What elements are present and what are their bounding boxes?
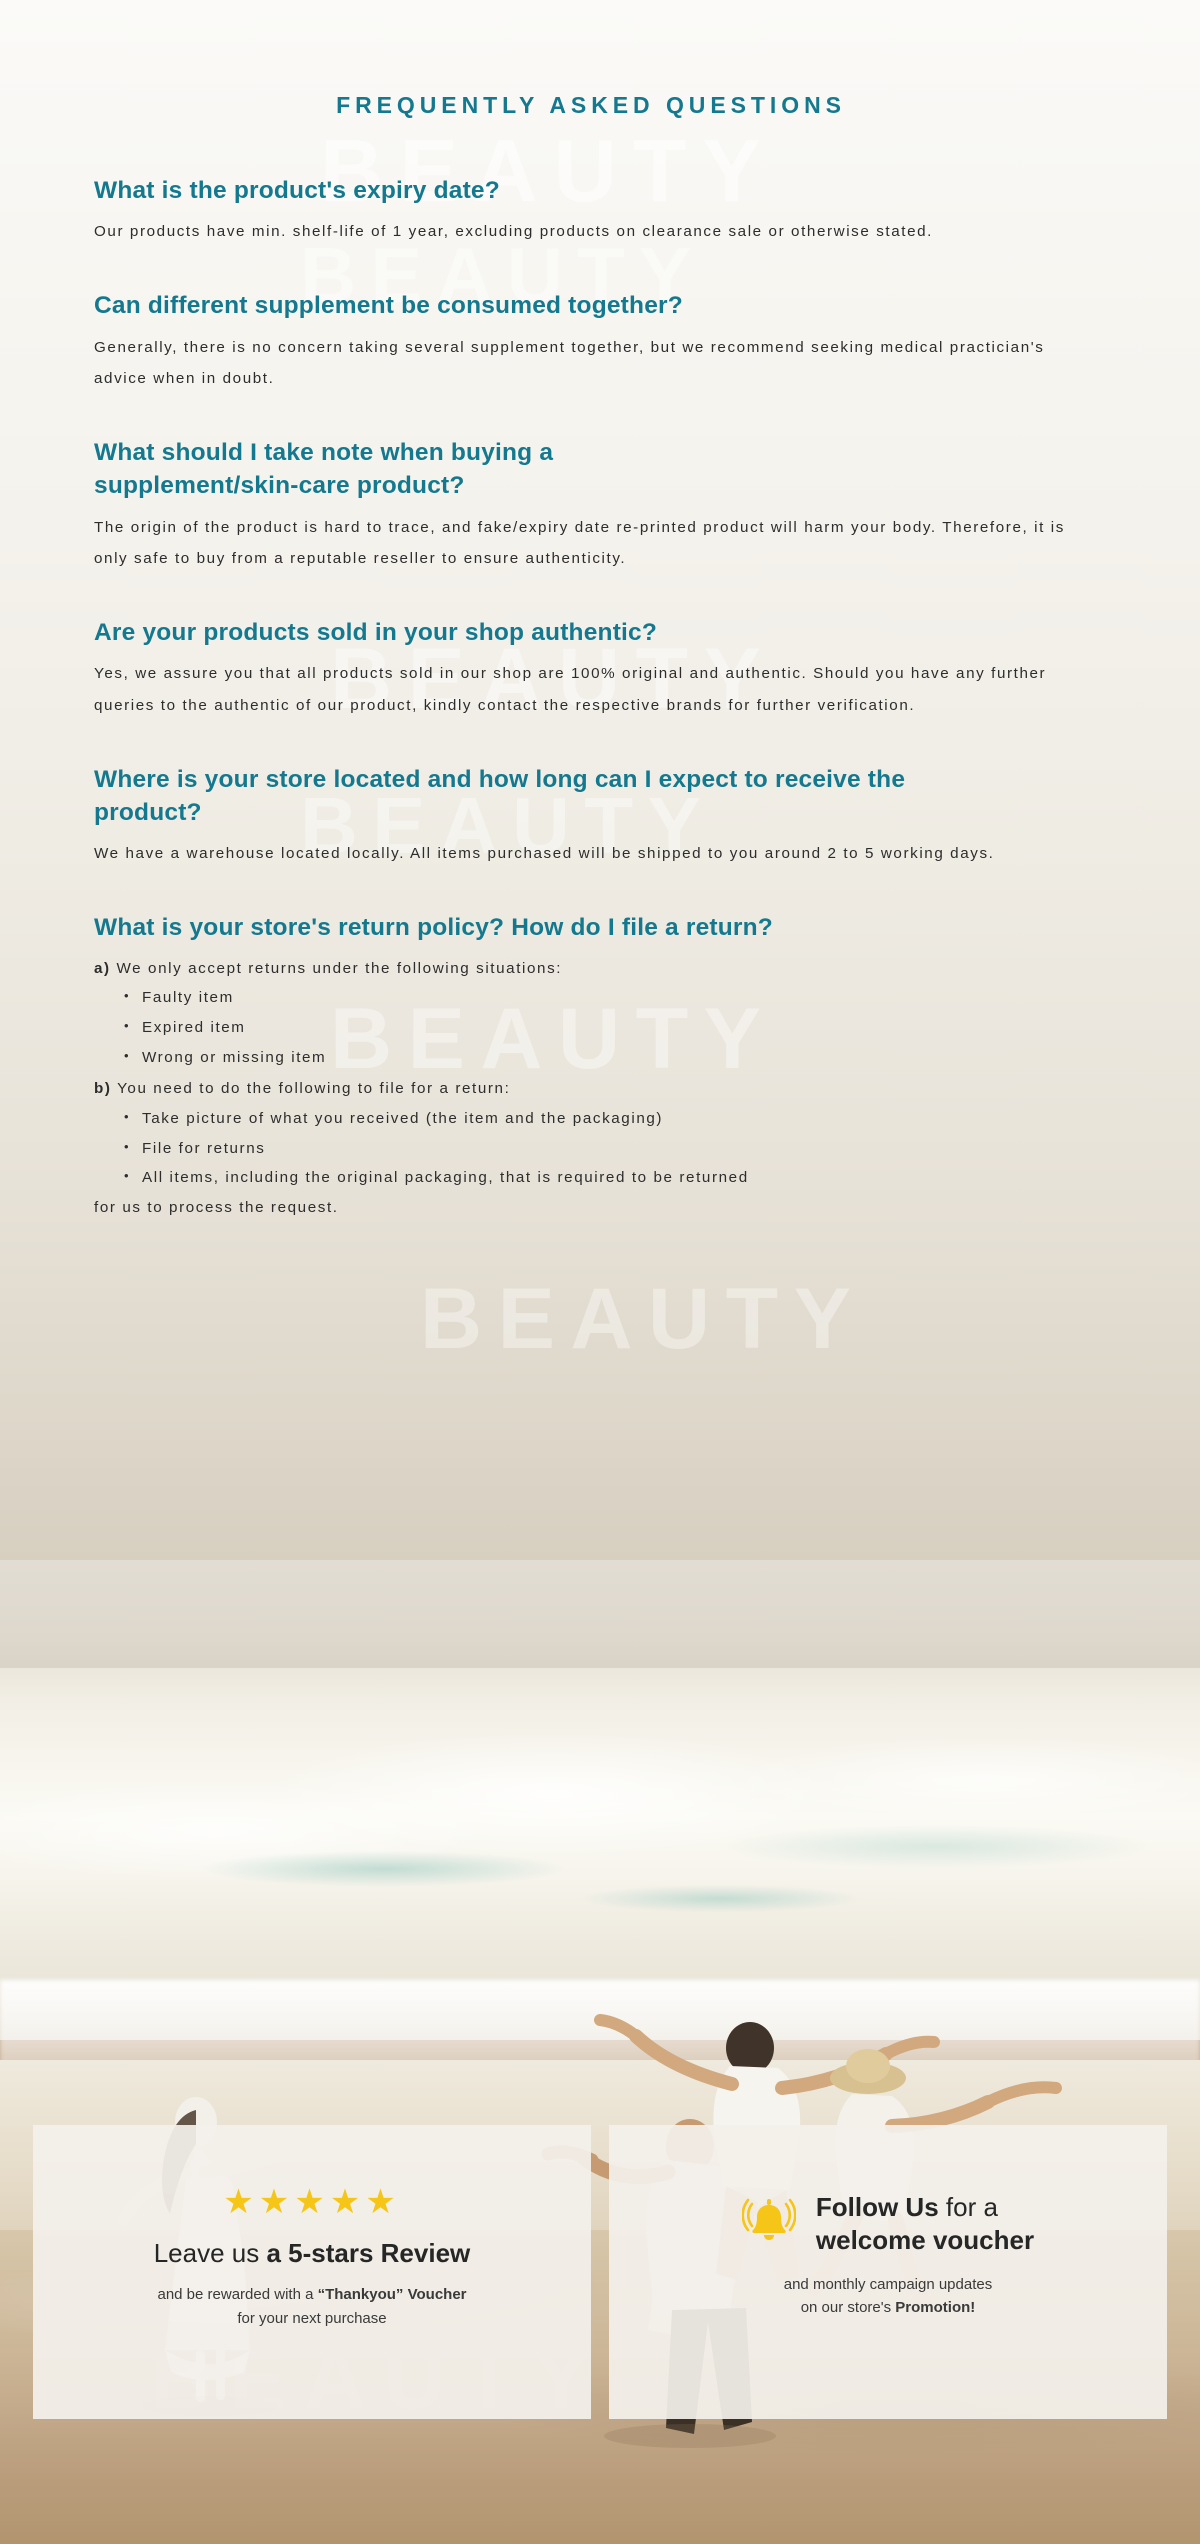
follow-headline-bold: Follow Us	[816, 2192, 939, 2222]
faq-question: Can different supplement be consumed tog…	[94, 289, 1106, 322]
faq-answer: Our products have min. shelf-life of 1 y…	[94, 216, 1094, 247]
follow-sub-line2-plain: on our store's	[801, 2299, 896, 2316]
faq-question: Are your products sold in your shop auth…	[94, 616, 1106, 649]
follow-subtext: and monthly campaign updates on our stor…	[784, 2273, 992, 2320]
list-item: Take picture of what you received (the i…	[94, 1104, 1106, 1134]
faq-page: BEAUTY BEAUTY BEAUTY BEAUTY BEAUTY BEAUT…	[0, 0, 1200, 2544]
promo-cards: ★★★★★ Leave us a 5-stars Review and be r…	[0, 2125, 1200, 2419]
faq-item: Where is your store located and how long…	[94, 763, 1106, 870]
list-item: Faulty item	[94, 983, 1106, 1013]
faq-item: Are your products sold in your shop auth…	[94, 616, 1106, 721]
policy-bullet-list: Take picture of what you received (the i…	[94, 1104, 1106, 1193]
faq-answer: Yes, we assure you that all products sol…	[94, 658, 1094, 720]
policy-group-b: b) You need to do the following to file …	[94, 1074, 1106, 1222]
faq-item: What should I take note when buying a su…	[94, 436, 1106, 574]
review-subtext: and be rewarded with a “Thankyou” Vouche…	[157, 2283, 466, 2330]
policy-group-a: a) We only accept returns under the foll…	[94, 954, 1106, 1073]
faq-question: Where is your store located and how long…	[94, 763, 974, 830]
faq-answer: The origin of the product is hard to tra…	[94, 512, 1094, 574]
follow-headline-line2: welcome voucher	[816, 2225, 1034, 2255]
review-sub-bold: “Thankyou” Voucher	[318, 2286, 467, 2303]
faq-question: What is the product's expiry date?	[94, 174, 1106, 207]
follow-headline: Follow Us for a welcome voucher	[816, 2191, 1034, 2257]
watermark-beauty: BEAUTY	[420, 1270, 866, 1369]
review-sub-plain: and be rewarded with a	[157, 2286, 317, 2303]
follow-headline-plain: for a	[939, 2192, 998, 2222]
list-item: Expired item	[94, 1013, 1106, 1043]
follow-sub-line1: and monthly campaign updates	[784, 2276, 992, 2293]
page-title: FREQUENTLY ASKED QUESTIONS	[94, 0, 1106, 119]
faq-section: BEAUTY BEAUTY BEAUTY BEAUTY BEAUTY BEAUT…	[0, 0, 1200, 1560]
follow-headline-row: Follow Us for a welcome voucher	[742, 2191, 1034, 2257]
faq-question: What is your store's return policy? How …	[94, 911, 1106, 944]
policy-marker: a)	[94, 960, 111, 977]
policy-bullet-list: Faulty item Expired item Wrong or missin…	[94, 983, 1106, 1072]
review-headline-bold: a 5-stars Review	[266, 2238, 470, 2268]
faq-item-return-policy: What is your store's return policy? How …	[94, 911, 1106, 1222]
faq-question: What should I take note when buying a su…	[94, 436, 734, 503]
list-item: All items, including the original packag…	[94, 1163, 1106, 1193]
policy-tail: for us to process the request.	[94, 1193, 1106, 1223]
policy-text: You need to do the following to file for…	[117, 1080, 510, 1097]
follow-card[interactable]: Follow Us for a welcome voucher and mont…	[609, 2125, 1167, 2419]
review-sub-line2: for your next purchase	[237, 2310, 386, 2327]
review-headline-plain: Leave us	[154, 2238, 267, 2268]
faq-list: What is the product's expiry date? Our p…	[94, 174, 1106, 1223]
faq-answer: We have a warehouse located locally. All…	[94, 838, 1094, 869]
policy-line: b) You need to do the following to file …	[94, 1074, 1106, 1104]
policy-text: We only accept returns under the followi…	[117, 960, 563, 977]
policy-line: a) We only accept returns under the foll…	[94, 954, 1106, 984]
review-headline: Leave us a 5-stars Review	[154, 2237, 471, 2270]
faq-answer: Generally, there is no concern taking se…	[94, 332, 1094, 394]
star-rating-icon: ★★★★★	[223, 2185, 400, 2219]
follow-sub-line2-bold: Promotion!	[895, 2299, 975, 2316]
policy-marker: b)	[94, 1080, 112, 1097]
list-item: Wrong or missing item	[94, 1043, 1106, 1073]
faq-item: What is the product's expiry date? Our p…	[94, 174, 1106, 247]
bell-icon	[742, 2196, 796, 2251]
review-card[interactable]: ★★★★★ Leave us a 5-stars Review and be r…	[33, 2125, 591, 2419]
faq-item: Can different supplement be consumed tog…	[94, 289, 1106, 394]
list-item: File for returns	[94, 1134, 1106, 1164]
